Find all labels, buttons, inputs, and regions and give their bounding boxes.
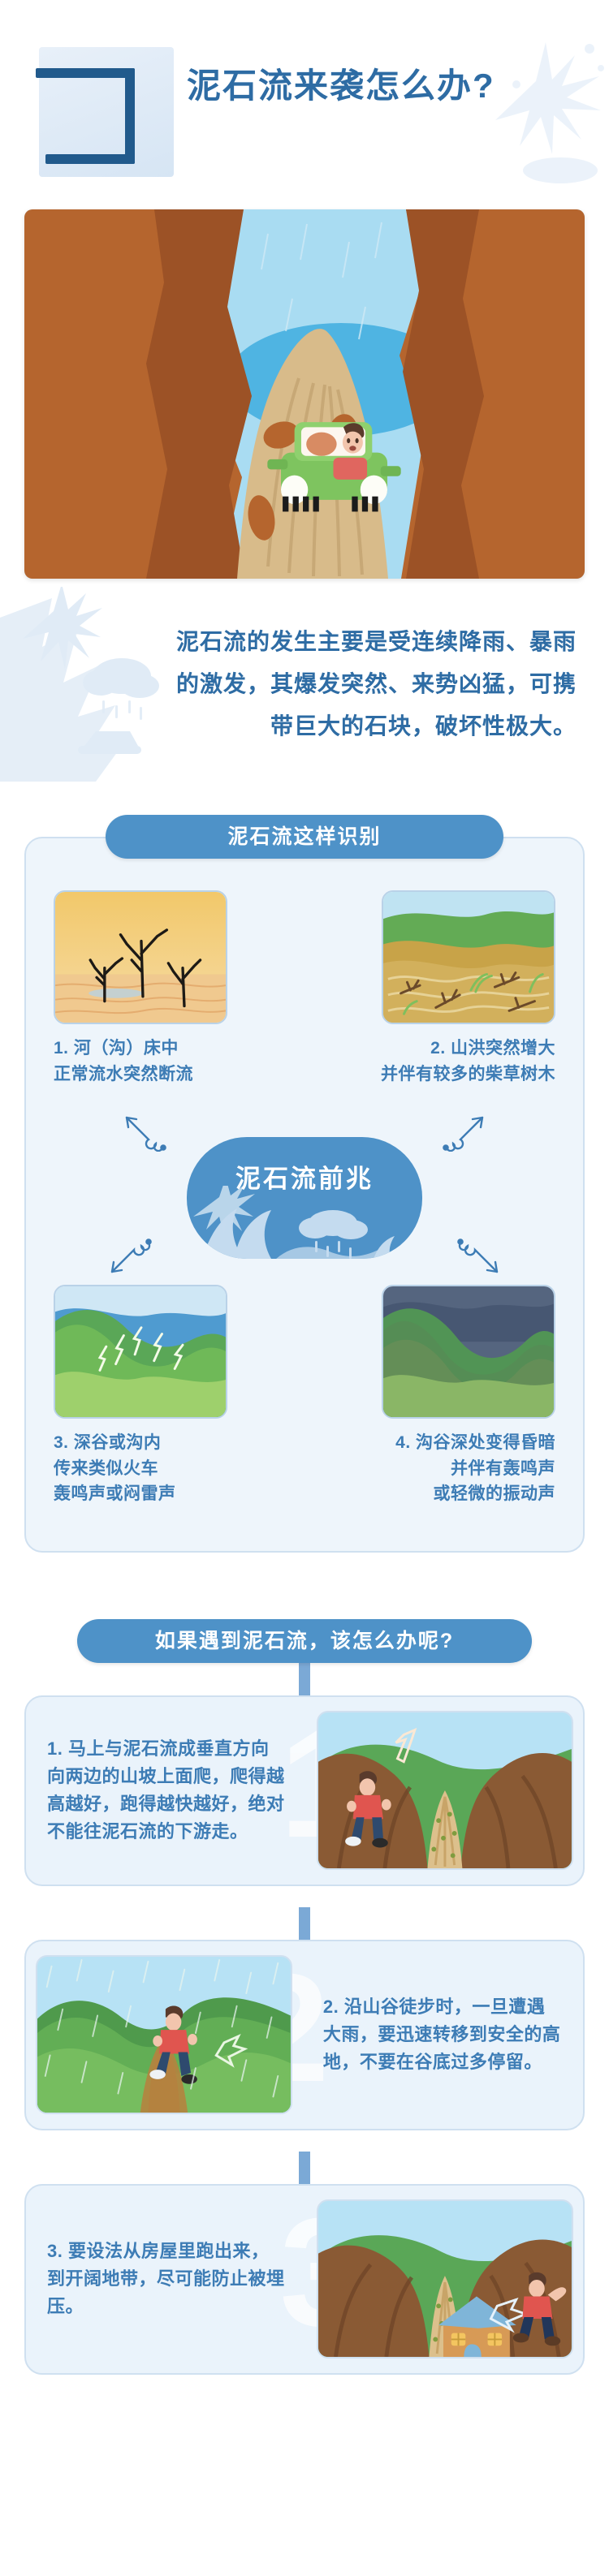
precursor-bubble-zone: 泥石流前兆	[54, 1103, 555, 1282]
action-card-1: 1 1. 马上与泥石流成垂直方向向两边的山坡上面爬，爬得越高越好，跑得越快越好，…	[24, 1695, 585, 1886]
identify-item-3: 3. 深谷或沟内 传来类似火车 轰鸣声或闷雷声	[54, 1285, 289, 1507]
connector-3	[299, 2152, 310, 2184]
connector-2	[299, 1907, 310, 1940]
page-header: 泥石流来袭怎么办?	[0, 0, 609, 209]
number-three-glyph	[31, 41, 161, 170]
arrow-loop-top-left-icon	[117, 1109, 167, 1152]
arrow-loop-bottom-right-icon	[456, 1238, 507, 1280]
action-card-2-text: 2. 沿山谷徒步时，一旦遭遇大雨，要迅速转移到安全的高地，不要在谷底过多停留。	[302, 1993, 583, 2076]
arrow-loop-top-right-icon	[442, 1109, 492, 1152]
identify-item-2-caption: 2. 山洪突然增大 并伴有较多的柴草树木	[320, 1036, 555, 1087]
dry-riverbed-thumb-icon	[54, 890, 227, 1024]
identify-item-4-caption: 4. 沟谷深处变得昏暗 并伴有轰鸣声 或轻微的振动声	[320, 1430, 555, 1507]
identify-item-4: 4. 沟谷深处变得昏暗 并伴有轰鸣声 或轻微的振动声	[320, 1285, 555, 1507]
page-title: 泥石流来袭怎么办?	[187, 58, 495, 108]
intro-section: 泥石流的发生主要是受连续降雨、暴雨的激发，其爆发突然、来势凶猛，可携带巨大的石块…	[0, 579, 609, 786]
identify-bottom-row: 3. 深谷或沟内 传来类似火车 轰鸣声或闷雷声 4. 沟谷深处变得昏暗 并伴有轰…	[54, 1285, 555, 1518]
action-card-2: 2 2. 沿山谷徒步时，一旦遭遇大雨，要迅速转移到安全的高地，不要在谷底过多停留…	[24, 1940, 585, 2130]
identify-section: 泥石流这样识别	[0, 786, 609, 1569]
section-number-badge	[31, 41, 174, 179]
hero-canyon-illustration	[24, 209, 585, 579]
action-card-3: 3 3. 要设法从房屋里跑出来，到开阔地带，尽可能防止被埋压。	[24, 2184, 585, 2375]
identify-panel: 1. 河（沟）床中 正常流水突然断流	[24, 837, 585, 1553]
intro-paragraph: 泥石流的发生主要是受连续降雨、暴雨的激发，其爆发突然、来势凶猛，可携带巨大的石块…	[32, 621, 577, 747]
identify-item-1: 1. 河（沟）床中 正常流水突然断流	[54, 890, 289, 1087]
action-section-heading: 如果遇到泥石流，该怎么办呢?	[77, 1619, 532, 1663]
action-card-1-text: 1. 马上与泥石流成垂直方向向两边的山坡上面爬，爬得越高越好，跑得越快越好，绝对…	[26, 1735, 307, 1846]
running-in-rain-illustration-icon	[36, 1955, 292, 2114]
connector-1	[299, 1663, 310, 1695]
flee-house-illustration-icon	[317, 2199, 573, 2358]
precursor-bubble: 泥石流前兆	[187, 1137, 422, 1259]
bubble-flood-rain-decor-icon	[187, 1186, 422, 1259]
action-section: 如果遇到泥石流，该怎么办呢? 1 1. 马上与泥石流成垂直方向向两边的山坡上面爬…	[0, 1569, 609, 2428]
identify-top-row: 1. 河（沟）床中 正常流水突然断流	[54, 890, 555, 1098]
flash-flood-debris-thumb-icon	[382, 890, 555, 1024]
valley-rumble-thumb-icon	[54, 1285, 227, 1419]
hero-image-wrap	[24, 209, 585, 579]
identify-item-2: 2. 山洪突然增大 并伴有较多的柴草树木	[320, 890, 555, 1087]
arrow-loop-bottom-left-icon	[102, 1238, 153, 1280]
header-splash-decor-icon	[438, 32, 609, 195]
identify-section-heading: 泥石流这样识别	[106, 815, 503, 859]
action-card-3-text: 3. 要设法从房屋里跑出来，到开阔地带，尽可能防止被埋压。	[26, 2238, 307, 2320]
identify-item-1-caption: 1. 河（沟）床中 正常流水突然断流	[54, 1036, 289, 1087]
climb-slope-illustration-icon	[317, 1711, 573, 1870]
dark-gorge-thumb-icon	[382, 1285, 555, 1419]
precursor-bubble-label: 泥石流前兆	[187, 1158, 422, 1195]
identify-item-3-caption: 3. 深谷或沟内 传来类似火车 轰鸣声或闷雷声	[54, 1430, 289, 1507]
